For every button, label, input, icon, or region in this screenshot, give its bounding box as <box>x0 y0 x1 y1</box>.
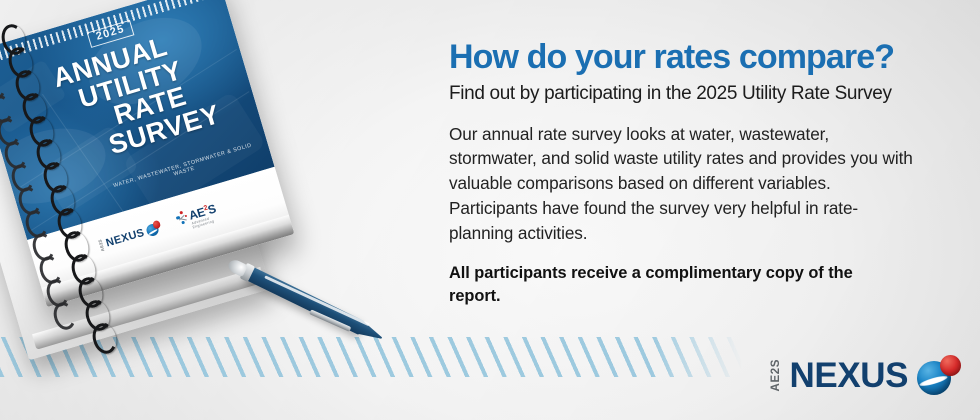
subheadline: Find out by participating in the 2025 Ut… <box>449 83 949 105</box>
cover-nexus-logo-word: NEXUS <box>105 227 146 250</box>
closing-paragraph: All participants receive a complimentary… <box>449 262 879 307</box>
globe-red-sphere <box>940 355 961 376</box>
headline: How do your rates compare? <box>449 40 949 76</box>
globe-icon <box>917 355 961 395</box>
molecule-dot-icon <box>180 211 183 214</box>
pen-highlight <box>264 276 369 327</box>
pen <box>221 251 383 348</box>
cover-globe-red-sphere <box>152 220 161 229</box>
cover-nexus-logo-prefix: AE2S <box>97 239 105 252</box>
text-content: How do your rates compare? Find out by p… <box>449 40 949 308</box>
body-paragraph: Our annual rate survey looks at water, w… <box>449 122 919 247</box>
logo-ae2s-prefix: AE2S <box>771 359 783 391</box>
logo-nexus-wordmark: NEXUS <box>790 358 909 393</box>
cover-globe-icon <box>145 221 162 238</box>
marketing-banner: 2025 ANNUAL UTILITY RATE SURVEY Water, W… <box>0 0 980 420</box>
molecule-dot-icon <box>181 221 184 224</box>
cover-nexus-logo: AE2S NEXUS <box>97 221 163 253</box>
cover-ae2s-logo: AE2S Advanced Engineering <box>172 199 221 235</box>
molecule-dot-icon <box>185 215 188 218</box>
ae2s-nexus-logo: AE2S NEXUS <box>771 355 961 395</box>
notebook-artwork: 2025 ANNUAL UTILITY RATE SURVEY Water, W… <box>0 0 412 382</box>
